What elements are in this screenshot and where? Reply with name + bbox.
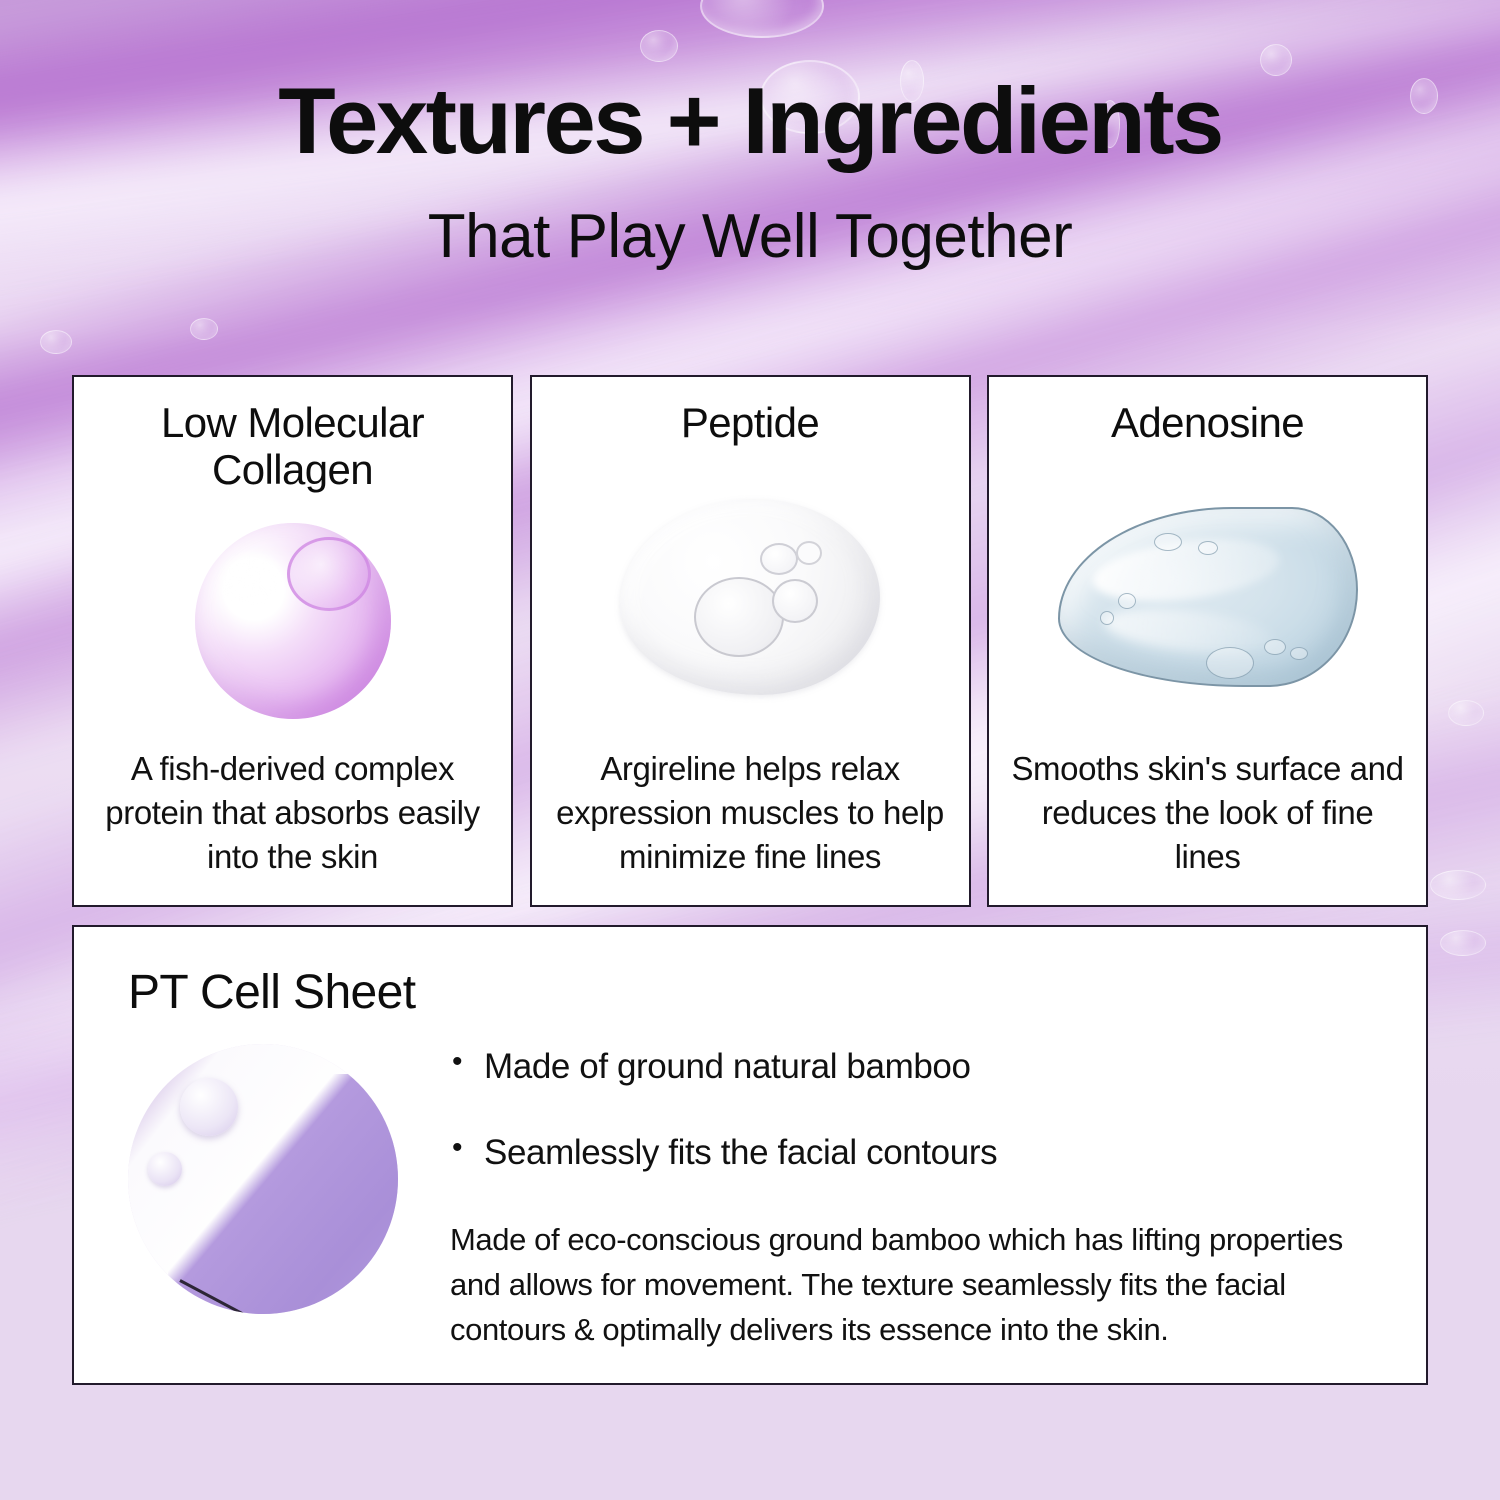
sheet-bullet-list: Made of ground natural bamboo Seamlessly… [450, 1046, 1382, 1174]
collagen-bubble-icon [92, 494, 493, 747]
panel-text-column: Made of ground natural bamboo Seamlessly… [398, 1038, 1382, 1353]
gel-bubble-11 [1440, 930, 1486, 956]
gel-bubble-10 [1430, 870, 1486, 900]
infographic-page: Textures + Ingredients That Play Well To… [0, 0, 1500, 1500]
adenosine-droplet-icon [1007, 446, 1408, 747]
gel-bubble-4 [1260, 44, 1292, 76]
peptide-blob-icon [550, 446, 951, 747]
list-item: Seamlessly fits the facial contours [450, 1132, 1382, 1174]
ingredient-card-collagen: Low Molecular Collagen A fish-derived co… [72, 375, 513, 907]
page-title: Textures + Ingredients [0, 74, 1500, 168]
ingredient-card-adenosine: Adenosine Smooths skin's surface and red… [987, 375, 1428, 907]
card-description-collagen: A fish-derived complex protein that abso… [92, 747, 493, 879]
pt-cell-sheet-panel: PT Cell Sheet Made of ground natural bam… [72, 925, 1428, 1385]
ingredient-card-peptide: Peptide Argireline helps relax expressio… [530, 375, 971, 907]
gel-bubble-3 [640, 30, 678, 62]
title-block: Textures + Ingredients That Play Well To… [0, 74, 1500, 268]
card-description-peptide: Argireline helps relax expression muscle… [550, 747, 951, 879]
panel-body: Made of ground natural bamboo Seamlessly… [74, 1020, 1426, 1353]
gel-bubble-8 [40, 330, 72, 354]
card-title-collagen: Low Molecular Collagen [92, 399, 493, 494]
list-item: Made of ground natural bamboo [450, 1046, 1382, 1088]
card-title-peptide: Peptide [681, 399, 819, 446]
panel-title: PT Cell Sheet [74, 927, 1426, 1020]
card-description-adenosine: Smooths skin's surface and reduces the l… [1007, 747, 1408, 879]
gel-bubble-12 [1448, 700, 1484, 726]
page-subtitle: That Play Well Together [0, 206, 1500, 268]
card-title-adenosine: Adenosine [1111, 399, 1304, 446]
sheet-paragraph: Made of eco-conscious ground bamboo whic… [450, 1218, 1382, 1353]
ingredient-cards-row: Low Molecular Collagen A fish-derived co… [72, 375, 1428, 907]
gel-bubble-9 [190, 318, 218, 340]
sheet-mask-photo [128, 1044, 398, 1314]
